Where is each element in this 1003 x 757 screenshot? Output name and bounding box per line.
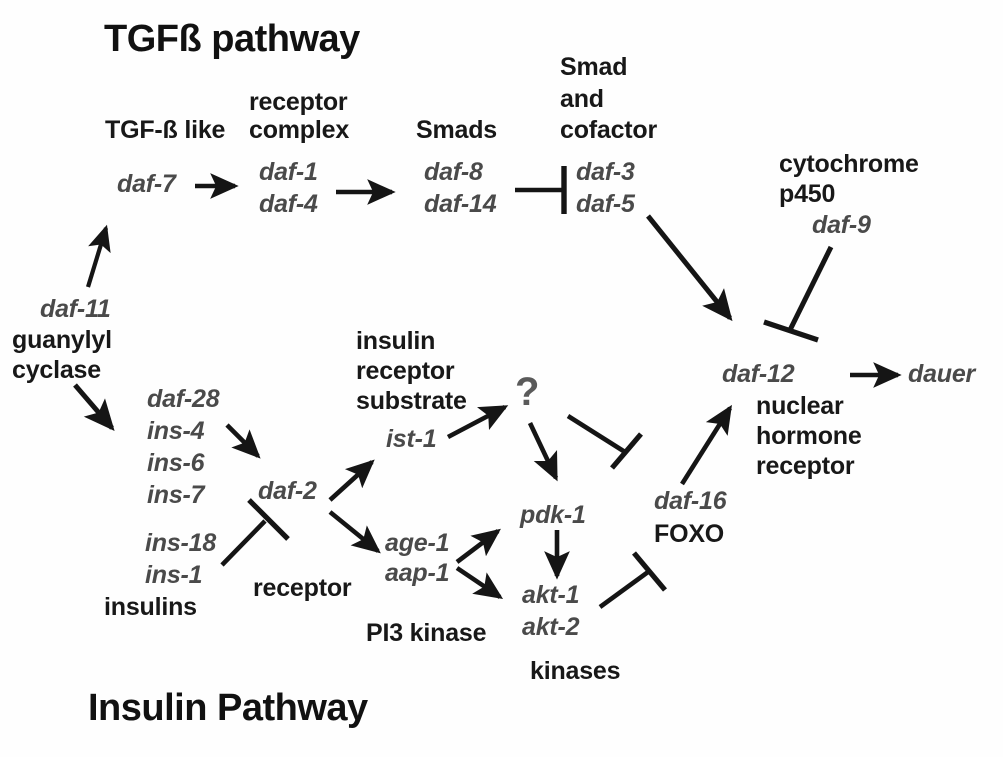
title-tgf-beta-pathway: TGFß pathway [104, 20, 360, 58]
label-guanylyl: guanylyl [12, 328, 112, 353]
gene-ins-7: ins-7 [147, 483, 204, 508]
edge-daf11-to-daf7 [88, 228, 106, 287]
label-receptor-complex-line1: receptor [249, 90, 347, 115]
label-receptor: receptor [253, 576, 351, 601]
label-irs-line1: insulin [356, 329, 435, 354]
edge-cofactor-to-daf12 [648, 216, 730, 318]
gene-daf-12: daf-12 [722, 362, 794, 387]
unknown-node-question-mark: ? [515, 372, 539, 412]
label-hormone: hormone [756, 424, 862, 449]
gene-daf-16: daf-16 [654, 489, 726, 514]
label-insulins: insulins [104, 595, 197, 620]
label-smad-and-cofactor-line1: Smad [560, 55, 627, 80]
label-receptor-complex-line2: complex [249, 118, 349, 143]
gene-age-1: age-1 [385, 531, 449, 556]
gene-daf-3: daf-3 [576, 160, 635, 185]
gene-ins-18: ins-18 [145, 531, 216, 556]
gene-pdk-1: pdk-1 [520, 503, 586, 528]
gene-ins-6: ins-6 [147, 451, 204, 476]
gene-akt-2: akt-2 [522, 615, 579, 640]
gene-aap-1: aap-1 [385, 561, 449, 586]
label-p450: p450 [779, 182, 835, 207]
pathway-diagram: TGFß pathway Insulin Pathway TGF-ß like … [0, 0, 1003, 757]
label-nhr-receptor: receptor [756, 454, 854, 479]
edge-daf2-to-ist1 [330, 462, 372, 500]
label-irs-line3: substrate [356, 389, 467, 414]
label-dauer: dauer [908, 362, 975, 387]
gene-daf-5: daf-5 [576, 192, 635, 217]
gene-akt-1: akt-1 [522, 583, 579, 608]
edge-daf9-inhibits-daf12 [764, 247, 831, 340]
label-tgf-beta-like: TGF-ß like [105, 118, 225, 143]
edge-daf11-to-insulins [75, 385, 112, 428]
edge-insulins-to-daf2 [227, 425, 258, 456]
gene-ins-4: ins-4 [147, 419, 204, 444]
edge-akt-inhibits-daf16 [600, 553, 665, 607]
gene-daf-8: daf-8 [424, 160, 483, 185]
gene-daf-9: daf-9 [812, 213, 871, 238]
gene-daf-1: daf-1 [259, 160, 318, 185]
gene-daf-11: daf-11 [40, 297, 111, 322]
edge-unknown-to-pdk1 [530, 423, 556, 478]
gene-daf-7: daf-7 [117, 172, 176, 197]
label-irs-line2: receptor [356, 359, 454, 384]
label-kinases: kinases [530, 659, 620, 684]
title-insulin-pathway: Insulin Pathway [88, 689, 368, 727]
gene-daf-14: daf-14 [424, 192, 496, 217]
gene-daf-4: daf-4 [259, 192, 318, 217]
gene-daf-28: daf-28 [147, 387, 219, 412]
label-cyclase: cyclase [12, 358, 101, 383]
edge-unknown-inhibits-daf16 [568, 416, 641, 468]
label-smad-and-cofactor-line2: and [560, 87, 604, 112]
edge-daf2-to-age1 [330, 512, 378, 551]
label-smads: Smads [416, 118, 497, 143]
edge-age1-to-akt [457, 568, 500, 597]
gene-ist-1: ist-1 [386, 427, 436, 452]
pathway-edges-layer [0, 0, 1003, 757]
label-foxo: FOXO [654, 522, 724, 547]
label-cytochrome: cytochrome [779, 152, 919, 177]
label-smad-and-cofactor-line3: cofactor [560, 118, 657, 143]
label-pi3-kinase: PI3 kinase [366, 621, 486, 646]
gene-daf-2: daf-2 [258, 479, 317, 504]
gene-ins-1: ins-1 [145, 563, 202, 588]
edge-age1-to-pdk1 [457, 531, 498, 562]
edge-smads-inhibits-cofactor [515, 166, 565, 214]
edge-ins18-inhibits-daf2 [222, 500, 288, 565]
label-nuclear: nuclear [756, 394, 844, 419]
edge-daf16-to-daf12 [682, 408, 730, 484]
